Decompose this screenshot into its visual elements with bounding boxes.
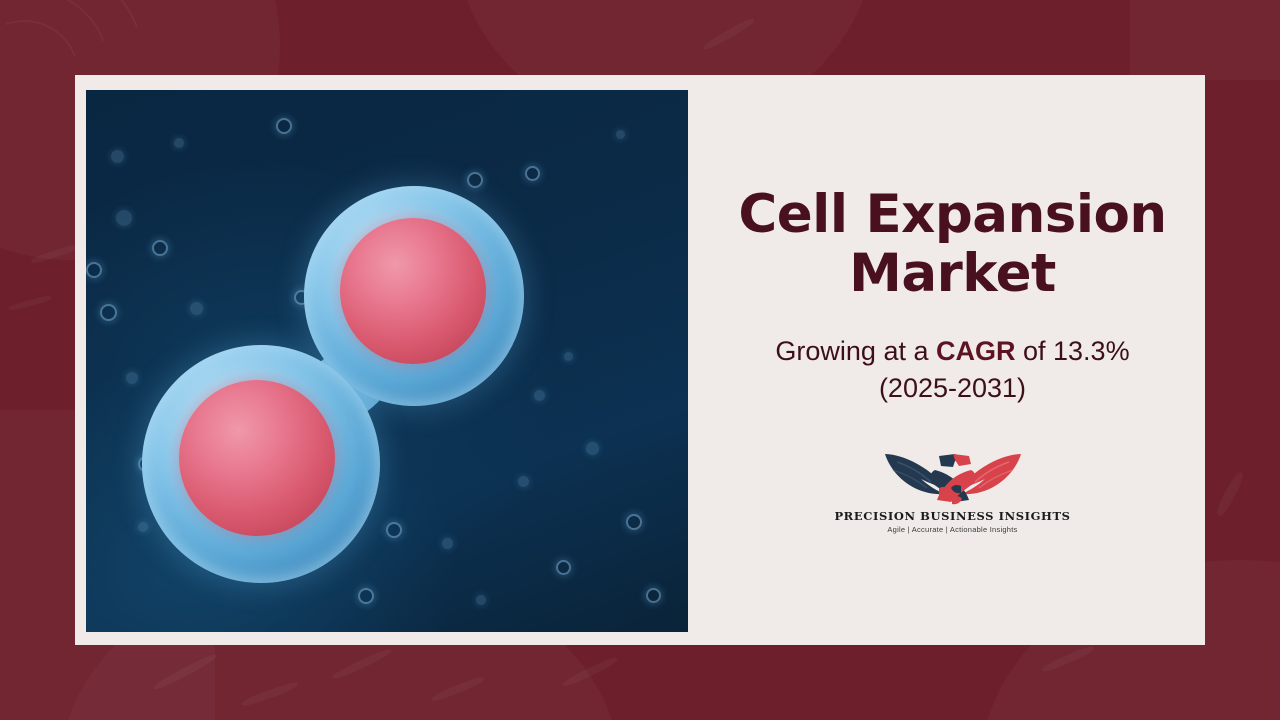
- subtitle-cagr-label: CAGR: [936, 336, 1016, 366]
- dividing-cells: [86, 90, 688, 632]
- nucleus-lower: [179, 380, 335, 536]
- bg-blob: [1130, 0, 1280, 80]
- text-panel: Cell Expansion Market Growing at a CAGR …: [700, 75, 1205, 645]
- bg-streak: [1214, 470, 1245, 517]
- subtitle-period: (2025-2031): [879, 373, 1026, 403]
- logo-tagline: Agile | Accurate | Actionable Insights: [887, 525, 1017, 534]
- cell-image: [86, 90, 688, 632]
- cagr-subtitle: Growing at a CAGR of 13.3%(2025-2031): [775, 333, 1129, 408]
- logo-company-name: PRECISION BUSINESS INSIGHTS: [834, 509, 1070, 523]
- bg-streak: [8, 294, 52, 311]
- eagle-handshake-icon: [877, 442, 1029, 506]
- nucleus-upper: [340, 218, 486, 364]
- page-title: Cell Expansion Market: [723, 186, 1183, 303]
- subtitle-rate: 13.3%: [1053, 336, 1130, 366]
- content-card: Cell Expansion Market Growing at a CAGR …: [75, 75, 1205, 645]
- company-logo: PRECISION BUSINESS INSIGHTS Agile | Accu…: [863, 442, 1043, 534]
- subtitle-prefix: Growing at a: [775, 336, 936, 366]
- banner-root: Cell Expansion Market Growing at a CAGR …: [0, 0, 1280, 720]
- subtitle-middle: of: [1015, 336, 1053, 366]
